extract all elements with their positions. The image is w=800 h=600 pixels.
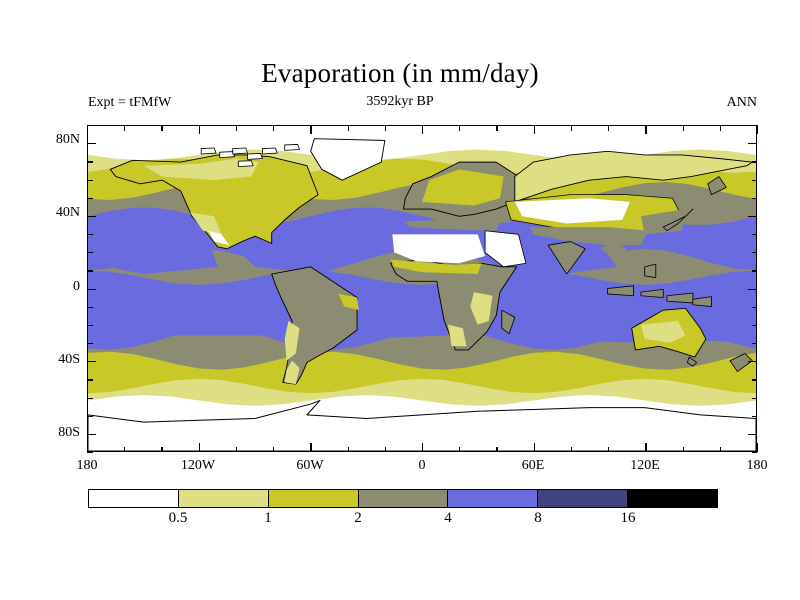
- axis-tick: [161, 447, 162, 453]
- chart-title: Evaporation (in mm/day): [0, 58, 800, 89]
- axis-tick: [87, 379, 93, 380]
- axis-tick: [752, 198, 758, 199]
- axis-tick: [752, 398, 758, 399]
- colorbar-band-<0.5: [89, 490, 178, 507]
- axis-tick: [87, 398, 93, 399]
- axis-tick: [757, 443, 758, 452]
- axis-tick: [748, 216, 757, 217]
- axis-tick: [87, 143, 96, 144]
- axis-tick: [87, 325, 93, 326]
- axis-tick: [87, 125, 93, 126]
- axis-tick: [683, 447, 684, 453]
- map-shape: [238, 161, 253, 167]
- axis-tick: [199, 125, 200, 134]
- axis-tick: [385, 125, 386, 131]
- colorbar-band-2-4: [358, 490, 448, 507]
- axis-tick: [348, 125, 349, 131]
- axis-tick: [459, 125, 460, 131]
- axis-tick: [752, 270, 758, 271]
- axis-tick: [748, 289, 757, 290]
- axis-tick: [459, 447, 460, 453]
- axis-tick: [87, 252, 93, 253]
- map-shape: [645, 264, 656, 278]
- map-shape: [496, 299, 641, 342]
- axis-tick: [236, 447, 237, 453]
- map-shape: [285, 144, 300, 150]
- axis-tick: [422, 125, 423, 134]
- axis-tick: [571, 125, 572, 131]
- axis-tick: [87, 361, 96, 362]
- axis-tick: [534, 125, 535, 134]
- axis-tick: [748, 143, 757, 144]
- axis-tick: [87, 270, 93, 271]
- colorbar-band->16: [627, 490, 717, 507]
- axis-tick: [273, 447, 274, 453]
- x-tick-180w: 180: [77, 458, 98, 474]
- colorbar-band-8-16: [537, 490, 627, 507]
- colorbar-band-1-2: [268, 490, 358, 507]
- axis-tick: [720, 125, 721, 131]
- y-tick-80s: 80S: [28, 425, 80, 441]
- x-tick-0: 0: [419, 458, 426, 474]
- axis-tick: [752, 379, 758, 380]
- axis-tick: [273, 125, 274, 131]
- colorbar-label-8: 8: [534, 510, 542, 527]
- axis-tick: [608, 125, 609, 131]
- map-shape: [262, 148, 277, 154]
- colorbar-band-4-8: [447, 490, 537, 507]
- axis-tick: [748, 434, 757, 435]
- y-tick-40s: 40S: [28, 352, 80, 368]
- colorbar-label-2: 2: [354, 510, 362, 527]
- season-label: ANN: [727, 95, 757, 111]
- axis-tick: [752, 234, 758, 235]
- axis-tick: [124, 447, 125, 453]
- axis-tick: [534, 443, 535, 452]
- axis-tick: [752, 125, 758, 126]
- axis-tick: [87, 443, 88, 452]
- axis-tick: [752, 161, 758, 162]
- axis-tick: [161, 125, 162, 131]
- axis-tick: [87, 125, 88, 134]
- axis-tick: [608, 447, 609, 453]
- axis-tick: [236, 125, 237, 131]
- axis-tick: [87, 161, 93, 162]
- axis-tick: [87, 343, 93, 344]
- map-shape: [88, 303, 274, 336]
- axis-tick: [310, 125, 311, 134]
- axis-tick: [87, 289, 96, 290]
- world-map-svg: [88, 126, 756, 451]
- map-shape: [348, 296, 448, 339]
- axis-tick: [87, 452, 93, 453]
- x-tick-120w: 120W: [181, 458, 215, 474]
- axis-tick: [87, 180, 93, 181]
- x-tick-60w: 60W: [296, 458, 323, 474]
- axis-tick: [87, 416, 93, 417]
- map-shape: [248, 153, 263, 159]
- colorbar-label-1: 1: [264, 510, 272, 527]
- axis-tick: [752, 252, 758, 253]
- colorbar-label-0.5: 0.5: [169, 510, 188, 527]
- figure-canvas: Evaporation (in mm/day) 3592kyr BP Expt …: [0, 0, 800, 600]
- colorbar-band-0.5-1: [178, 490, 268, 507]
- y-tick-80n: 80N: [28, 132, 80, 148]
- axis-tick: [87, 434, 96, 435]
- axis-tick: [752, 325, 758, 326]
- x-tick-180e: 180: [747, 458, 768, 474]
- x-tick-60e: 60E: [522, 458, 545, 474]
- axis-tick: [752, 416, 758, 417]
- colorbar[interactable]: [88, 489, 718, 508]
- map-plot-area: [87, 125, 757, 452]
- axis-tick: [752, 452, 758, 453]
- axis-tick: [496, 125, 497, 131]
- axis-tick: [87, 307, 93, 308]
- axis-tick: [571, 447, 572, 453]
- axis-tick: [87, 198, 93, 199]
- experiment-label: Expt = tFMfW: [88, 95, 171, 111]
- axis-tick: [124, 125, 125, 131]
- axis-tick: [752, 343, 758, 344]
- map-shape: [233, 148, 248, 154]
- axis-tick: [752, 307, 758, 308]
- axis-tick: [385, 447, 386, 453]
- axis-tick: [199, 443, 200, 452]
- axis-tick: [422, 443, 423, 452]
- axis-tick: [310, 443, 311, 452]
- colorbar-label-16: 16: [621, 510, 636, 527]
- axis-tick: [645, 443, 646, 452]
- x-tick-120e: 120E: [630, 458, 660, 474]
- axis-tick: [645, 125, 646, 134]
- axis-tick: [748, 361, 757, 362]
- axis-tick: [348, 447, 349, 453]
- axis-tick: [87, 216, 96, 217]
- y-tick-40n: 40N: [28, 205, 80, 221]
- axis-tick: [496, 447, 497, 453]
- axis-tick: [757, 125, 758, 134]
- axis-tick: [720, 447, 721, 453]
- axis-tick: [87, 234, 93, 235]
- axis-tick: [683, 125, 684, 131]
- axis-tick: [752, 180, 758, 181]
- colorbar-label-4: 4: [444, 510, 452, 527]
- y-tick-0: 0: [28, 279, 80, 295]
- map-shape: [201, 148, 216, 154]
